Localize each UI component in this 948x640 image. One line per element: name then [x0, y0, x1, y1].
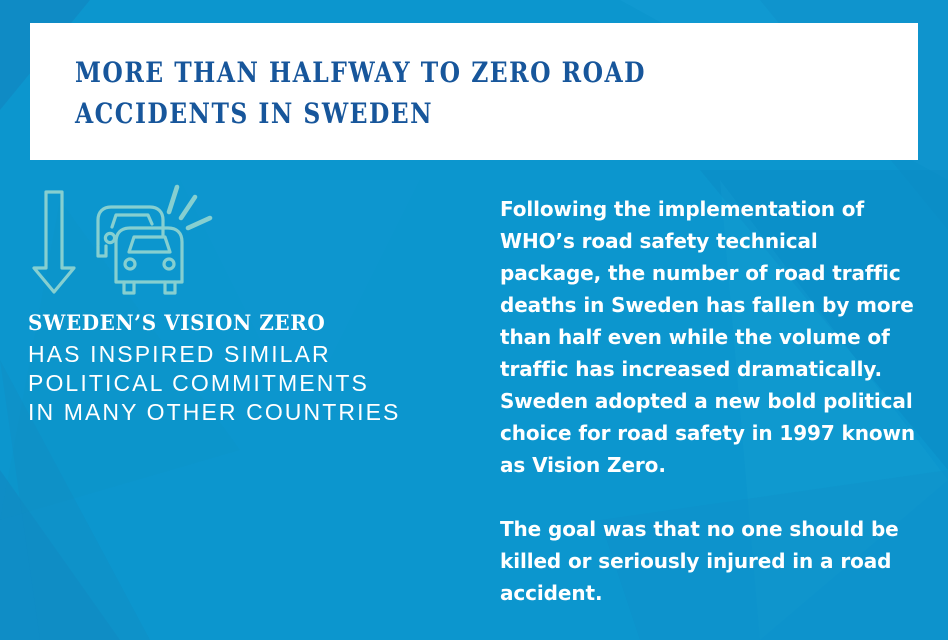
page-title: More than halfway to zero road accidents…: [75, 52, 819, 134]
left-panel-heading: Sweden’s Vision Zero: [28, 309, 437, 336]
right-panel: Following the implementation of WHO’s ro…: [500, 193, 920, 609]
infographic-canvas: More than halfway to zero road accidents…: [0, 0, 948, 640]
front-car-icon: [116, 228, 182, 293]
car-crash-with-down-arrow-icon: [28, 180, 213, 295]
body-paragraph: Following the implementation of WHO’s ro…: [500, 193, 920, 481]
impact-lines-icon: [169, 187, 210, 228]
left-panel: Sweden’s Vision Zero has inspired simila…: [28, 180, 458, 427]
left-panel-subheading: has inspired similar political commitmen…: [28, 340, 458, 427]
body-paragraph: The goal was that no one should be kille…: [500, 513, 920, 609]
down-arrow-icon: [34, 192, 74, 292]
title-banner: More than halfway to zero road accidents…: [30, 23, 918, 160]
